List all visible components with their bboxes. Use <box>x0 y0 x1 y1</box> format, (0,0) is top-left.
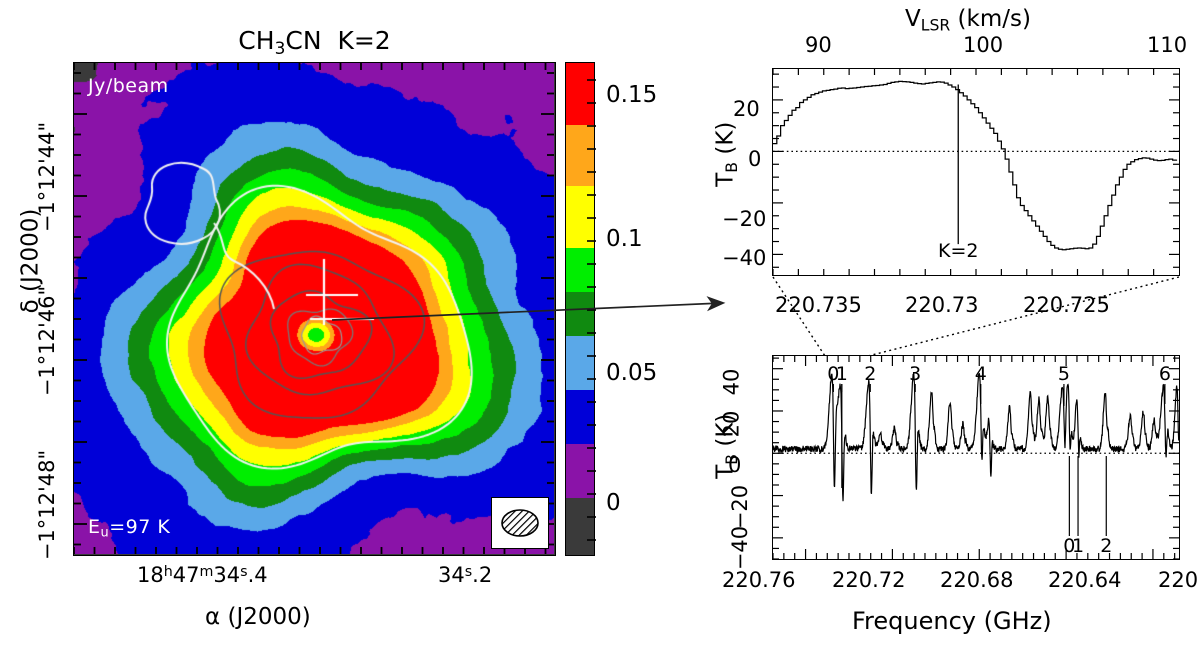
bot-xtick-4: 220.6 <box>1158 568 1200 592</box>
beam-ellipse-icon <box>492 498 548 548</box>
xtick-label-0: 18h47m34s.4 <box>137 563 268 587</box>
map-unit-label: Jy/beam <box>88 75 169 97</box>
frequency-axis-title: Frequency (GHz) <box>852 607 1052 635</box>
colorbar-label-3: 0 <box>606 490 621 516</box>
bot-ytick-0: 40 <box>719 369 743 396</box>
full-spectrum-panel: 0123456012 <box>772 355 1180 560</box>
k2-annotation: K=2 <box>938 240 978 262</box>
top-ytick-2: −20 <box>722 207 766 231</box>
full-spectrum-plot: 0123456012 <box>773 356 1179 559</box>
zoom-spectrum-panel: K=2 <box>772 68 1180 276</box>
top-ytick-1: 0 <box>748 147 761 171</box>
top-xtick-0: 220.735 <box>775 293 862 317</box>
bot-xtick-2: 220.68 <box>940 568 1013 592</box>
map-overlay <box>74 63 554 554</box>
ytick-label-2: −1°12'48" <box>35 450 59 560</box>
k-label-top-6: 6 <box>1159 363 1171 385</box>
top-xtick-2: 220.725 <box>1023 293 1110 317</box>
k-label-top-3: 3 <box>909 363 921 385</box>
k-label-top-1: 1 <box>836 363 848 385</box>
figure-root: CH3CN K=2 Jy/beam Eu=97 K −1°12'44" −1°1… <box>0 0 1200 645</box>
upper-energy-label: Eu=97 K <box>88 516 170 541</box>
dec-axis-title: δ (J2000) <box>17 209 43 314</box>
top-xtick-1: 220.73 <box>905 293 978 317</box>
colorbar-label-0: 0.15 <box>606 82 657 108</box>
top-ytick-0: 20 <box>733 97 760 121</box>
colorbar-ticks <box>565 62 597 556</box>
bot-ytick-2: 0 <box>728 453 741 477</box>
top-tick-label-2: 110 <box>1147 33 1187 57</box>
vlsr-axis-title: VLSR (km/s) <box>905 6 1031 34</box>
bot-ytick-1: 20 <box>719 411 743 438</box>
bot-ytick-4: −40 <box>728 526 752 570</box>
map-title: CH3CN K=2 <box>73 26 556 59</box>
k-label-top-4: 4 <box>975 363 987 385</box>
ra-axis-title: α (J2000) <box>205 604 311 630</box>
xtick-label-1: 34s.2 <box>438 563 492 587</box>
top-ytick-3: −40 <box>722 246 766 270</box>
bot-xtick-3: 220.64 <box>1048 568 1121 592</box>
k-label-top-2: 2 <box>864 363 876 385</box>
bot-xtick-1: 220.72 <box>832 568 905 592</box>
top-tick-label-1: 100 <box>963 33 1003 57</box>
tb-axis-title-top: TB (K) <box>712 122 740 187</box>
bot-xtick-0: 220.76 <box>722 568 795 592</box>
colorbar-label-1: 0.1 <box>606 226 643 252</box>
beam-box <box>491 497 549 549</box>
zoom-spectrum-plot: K=2 <box>773 69 1179 275</box>
k-label-bottom-1: 1 <box>1072 535 1084 557</box>
k-label-top-5: 5 <box>1058 363 1070 385</box>
intensity-map-panel: Jy/beam Eu=97 K <box>73 62 556 556</box>
colorbar-label-2: 0.05 <box>606 360 657 386</box>
top-tick-label-0: 90 <box>805 33 832 57</box>
k-label-bottom-2: 2 <box>1100 535 1112 557</box>
bot-ytick-3: −20 <box>728 485 752 529</box>
